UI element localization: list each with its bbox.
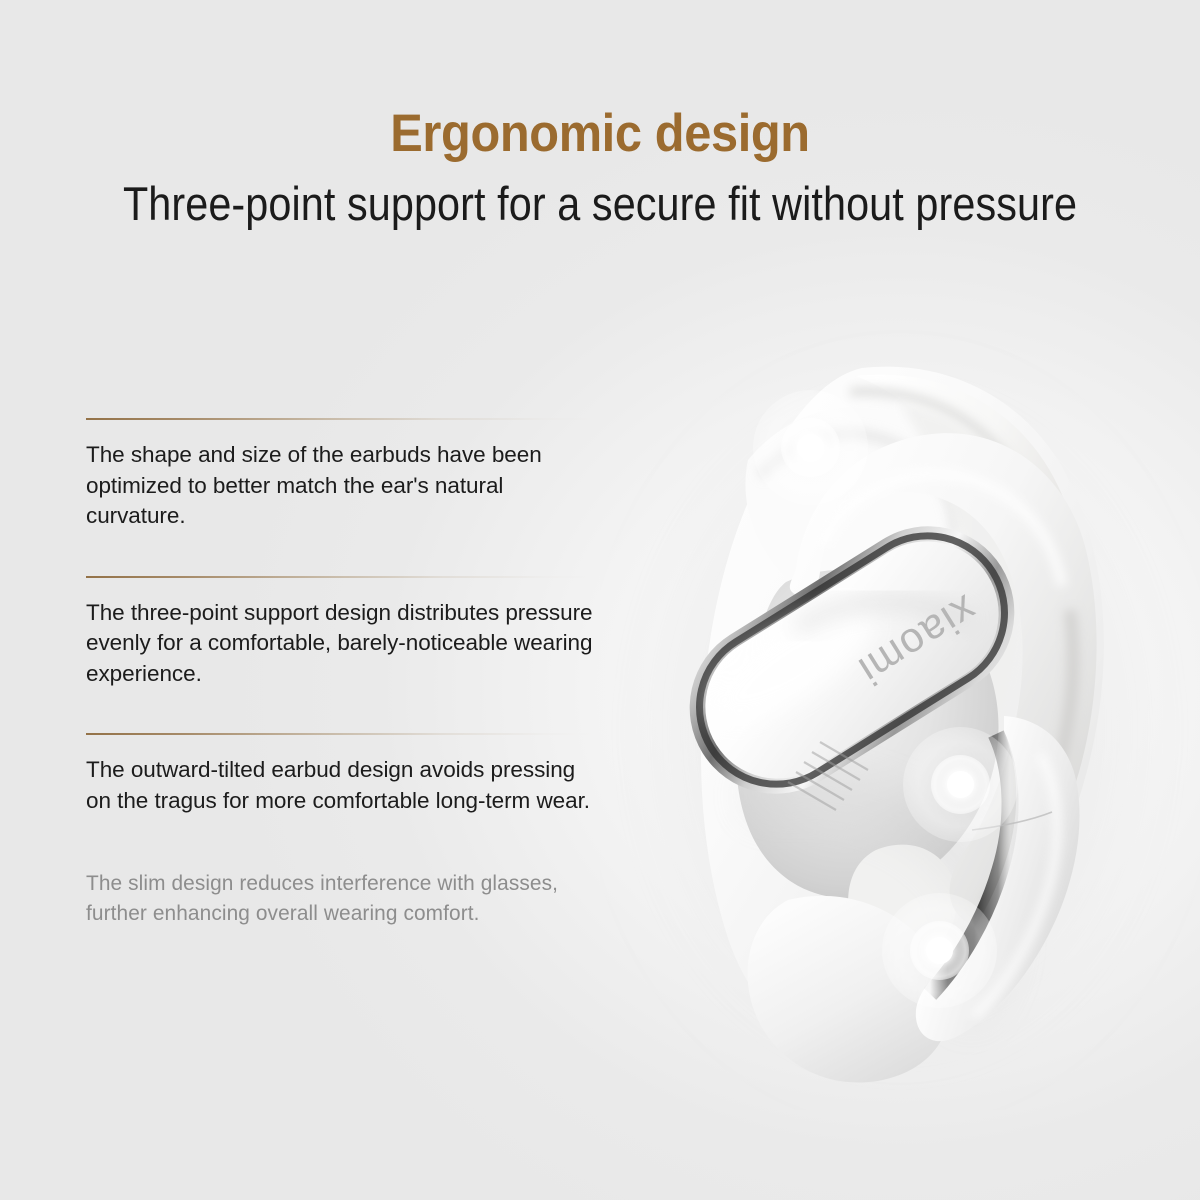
earbud-on-ear-illustration: xiaomi bbox=[600, 330, 1200, 1110]
product-image: xiaomi bbox=[600, 330, 1200, 1110]
feature-text: The outward-tilted earbud design avoids … bbox=[86, 735, 598, 816]
page-kicker: Ergonomic design bbox=[48, 104, 1152, 164]
feature-spacer bbox=[86, 689, 602, 733]
page-title: Three-point support for a secure fit wit… bbox=[72, 172, 1128, 235]
page-header: Ergonomic design Three-point support for… bbox=[0, 0, 1200, 235]
product-feature-page: Ergonomic design Three-point support for… bbox=[0, 0, 1200, 1200]
feature-list: The shape and size of the earbuds have b… bbox=[86, 418, 602, 928]
feature-text: The three-point support design distribut… bbox=[86, 578, 598, 690]
feature-spacer bbox=[86, 532, 602, 576]
feature-spacer bbox=[86, 816, 602, 868]
feature-note: The slim design reduces interference wit… bbox=[86, 868, 587, 928]
feature-item-shape-and-size: The shape and size of the earbuds have b… bbox=[86, 418, 602, 532]
feature-item-three-point-support: The three-point support design distribut… bbox=[86, 576, 602, 690]
feature-text: The shape and size of the earbuds have b… bbox=[86, 420, 598, 532]
feature-item-outward-tilted: The outward-tilted earbud design avoids … bbox=[86, 733, 602, 816]
